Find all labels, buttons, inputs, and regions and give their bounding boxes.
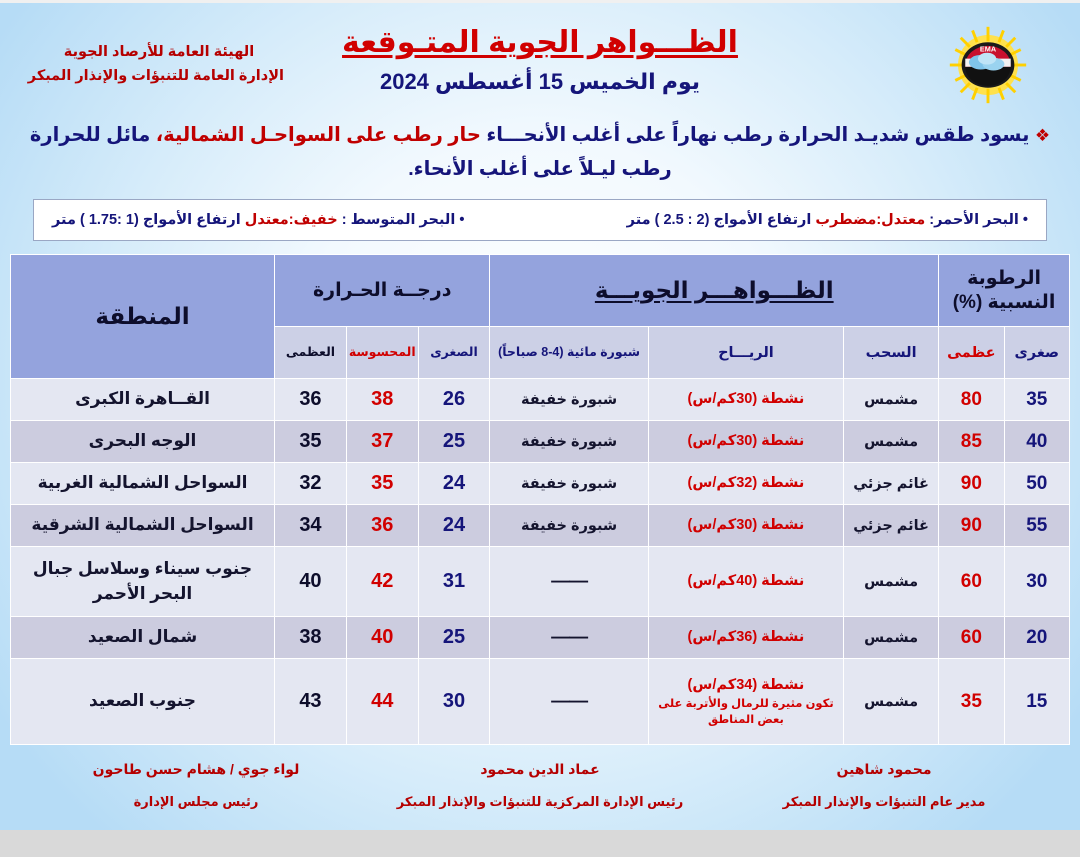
bottom-strip [0,830,1080,857]
red-sea-condition: معتدل:مضطرب [815,212,925,228]
cell-humidity-min: 20 [1004,617,1069,659]
cell-clouds: غائم جزئي [844,463,939,505]
table-row: 55 90 غائم جزئي نشطة (30كم/س) شبورة خفيف… [11,505,1070,547]
sea-conditions-box: • البحر الأحمر: معتدل:مضطرب ارتفاع الأمو… [33,199,1047,241]
cell-humidity-min: 50 [1004,463,1069,505]
red-sea-label: • البحر الأحمر: [929,212,1028,228]
mediterranean-condition: خفيف:معتدل [245,212,338,228]
cell-temp-feels: 38 [346,379,418,421]
signature-block: لواء جوي / هشام حسن طاحون رئيس مجلس الإد… [24,761,368,810]
cell-temp-min: 24 [418,505,490,547]
cell-humidity-max: 80 [939,379,1004,421]
page-header: EMA الظـــواهر الجوية المتـوقعة يوم الخم… [0,3,1080,115]
cell-temp-min: 31 [418,547,490,617]
cell-temp-max: 43 [275,659,347,745]
cell-fog: —— [490,547,648,617]
cell-clouds: مشمس [844,617,939,659]
signature-role: رئيس مجلس الإدارة [24,794,368,810]
cell-temp-max: 34 [275,505,347,547]
cell-temp-feels: 35 [346,463,418,505]
agency-line-2: الإدارة العامة للتنبؤات والإنذار المبكر [34,65,284,89]
mediterranean-waves-value: (1 :1.75 ) متر [52,212,139,228]
cell-temp-feels: 36 [346,505,418,547]
signature-name: عماد الدين محمود [368,761,712,778]
subheader-humidity-min: صغرى [1004,327,1069,379]
cell-clouds: غائم جزئي [844,505,939,547]
forecast-table-wrapper: الرطوبة النسبية (%) الظـــواهـــر الجويـ… [10,254,1070,745]
cell-region: شمال الصعيد [11,617,275,659]
cell-temp-max: 40 [275,547,347,617]
signature-role: رئيس الإدارة المركزية للتنبؤات والإنذار … [368,794,712,810]
agency-line-1: الهيئة العامة للأرصاد الجوية [34,41,284,65]
subheader-wind: الريـــاح [648,327,843,379]
cell-wind: نشطة (34كم/س) تكون مثيرة للرمال والأتربة… [648,659,843,745]
cell-fog: شبورة خفيفة [490,379,648,421]
cell-temp-feels: 40 [346,617,418,659]
header-phenomena-text: الظـــواهـــر الجويـــة [595,277,834,303]
signature-name: محمود شاهين [712,761,1056,778]
cell-humidity-max: 60 [939,547,1004,617]
cell-fog: شبورة خفيفة [490,505,648,547]
cell-fog: شبورة خفيفة [490,421,648,463]
table-row: 35 80 مشمس نشطة (30كم/س) شبورة خفيفة 26 … [11,379,1070,421]
cell-humidity-max: 85 [939,421,1004,463]
cell-temp-max: 36 [275,379,347,421]
subheader-temp-max: العظمى [275,327,347,379]
cell-temp-feels: 42 [346,547,418,617]
subheader-humidity-max: عظمى [939,327,1004,379]
cell-humidity-min: 35 [1004,379,1069,421]
mediterranean-label: • البحر المتوسط : [342,212,465,228]
advisory-part-1: يسود طقس شديـد الحرارة رطب نهاراً على أغ… [486,124,1029,146]
signature-footer: محمود شاهين مدير عام التنبؤات والإنذار ا… [24,761,1056,810]
cell-clouds: مشمس [844,379,939,421]
cell-humidity-min: 15 [1004,659,1069,745]
signature-block: عماد الدين محمود رئيس الإدارة المركزية ل… [368,761,712,810]
table-row: 30 60 مشمس نشطة (40كم/س) —— 31 42 40 جنو… [11,547,1070,617]
cell-wind: نشطة (30كم/س) [648,421,843,463]
forecast-table-body: 35 80 مشمس نشطة (30كم/س) شبورة خفيفة 26 … [11,379,1070,745]
header-region: المنطقة [11,255,275,379]
cell-temp-min: 25 [418,421,490,463]
cell-temp-max: 38 [275,617,347,659]
cell-clouds: مشمس [844,421,939,463]
header-temperature: درجــة الحـرارة [275,255,490,327]
cell-region: الوجه البحرى [11,421,275,463]
cell-humidity-min: 40 [1004,421,1069,463]
cell-temp-min: 25 [418,617,490,659]
table-group-header-row: الرطوبة النسبية (%) الظـــواهـــر الجويـ… [11,255,1070,327]
table-row: 40 85 مشمس نشطة (30كم/س) شبورة خفيفة 25 … [11,421,1070,463]
red-sea-waves-label: ارتفاع الأمواج [714,212,812,228]
subheader-temp-min: الصغرى [418,327,490,379]
cell-region: السواحل الشمالية الشرقية [11,505,275,547]
red-sea-waves-value: (2 : 2.5 ) متر [627,212,710,228]
header-phenomena: الظـــواهـــر الجويـــة [490,255,939,327]
cell-humidity-min: 30 [1004,547,1069,617]
sea-mediterranean: • البحر المتوسط : خفيف:معتدل ارتفاع الأم… [52,212,464,228]
cell-temp-min: 30 [418,659,490,745]
cell-clouds: مشمس [844,659,939,745]
cell-temp-min: 24 [418,463,490,505]
subheader-fog: شبورة مائية (4-8 صباحاً) [490,327,648,379]
advisory-bullet-icon: ❖ [1035,126,1050,145]
cell-region: القــاهرة الكبرى [11,379,275,421]
cell-region: جنوب سيناء وسلاسل جبال البحر الأحمر [11,547,275,617]
cell-humidity-max: 90 [939,463,1004,505]
table-row: 20 60 مشمس نشطة (36كم/س) —— 25 40 38 شما… [11,617,1070,659]
cell-humidity-max: 35 [939,659,1004,745]
table-row: 50 90 غائم جزئي نشطة (32كم/س) شبورة خفيف… [11,463,1070,505]
cell-wind: نشطة (32كم/س) [648,463,843,505]
cell-temp-feels: 44 [346,659,418,745]
cell-humidity-max: 60 [939,617,1004,659]
cell-region: السواحل الشمالية الغربية [11,463,275,505]
cell-fog: —— [490,659,648,745]
sea-red: • البحر الأحمر: معتدل:مضطرب ارتفاع الأمو… [627,212,1028,228]
weather-advisory: ❖ يسود طقس شديـد الحرارة رطب نهاراً على … [28,119,1052,186]
cell-wind-speed: نشطة (34كم/س) [688,677,805,693]
cell-humidity-min: 55 [1004,505,1069,547]
cell-clouds: مشمس [844,547,939,617]
header-humidity: الرطوبة النسبية (%) [939,255,1070,327]
cell-wind: نشطة (36كم/س) [648,617,843,659]
mediterranean-waves-label: ارتفاع الأمواج [143,212,241,228]
subheader-clouds: السحب [844,327,939,379]
table-row: 15 35 مشمس نشطة (34كم/س) تكون مثيرة للرم… [11,659,1070,745]
signature-block: محمود شاهين مدير عام التنبؤات والإنذار ا… [712,761,1056,810]
forecast-page: EMA الظـــواهر الجوية المتـوقعة يوم الخم… [0,0,1080,830]
cell-temp-feels: 37 [346,421,418,463]
advisory-part-2: حار رطب على السواحـل الشمالية، [156,124,481,146]
cell-temp-min: 26 [418,379,490,421]
cell-wind-note: تكون مثيرة للرمال والأتربة على بعض المنا… [653,697,839,728]
signature-name: لواء جوي / هشام حسن طاحون [24,761,368,778]
cell-temp-max: 35 [275,421,347,463]
cell-region: جنوب الصعيد [11,659,275,745]
cell-wind: نشطة (30كم/س) [648,505,843,547]
cell-wind: نشطة (40كم/س) [648,547,843,617]
cell-fog: —— [490,617,648,659]
cell-wind: نشطة (30كم/س) [648,379,843,421]
signature-role: مدير عام التنبؤات والإنذار المبكر [712,794,1056,810]
cell-temp-max: 32 [275,463,347,505]
cell-humidity-max: 90 [939,505,1004,547]
forecast-table: الرطوبة النسبية (%) الظـــواهـــر الجويـ… [10,254,1070,745]
cell-fog: شبورة خفيفة [490,463,648,505]
subheader-temp-feels: المحسوسة [346,327,418,379]
agency-name: الهيئة العامة للأرصاد الجوية الإدارة الع… [34,41,284,89]
